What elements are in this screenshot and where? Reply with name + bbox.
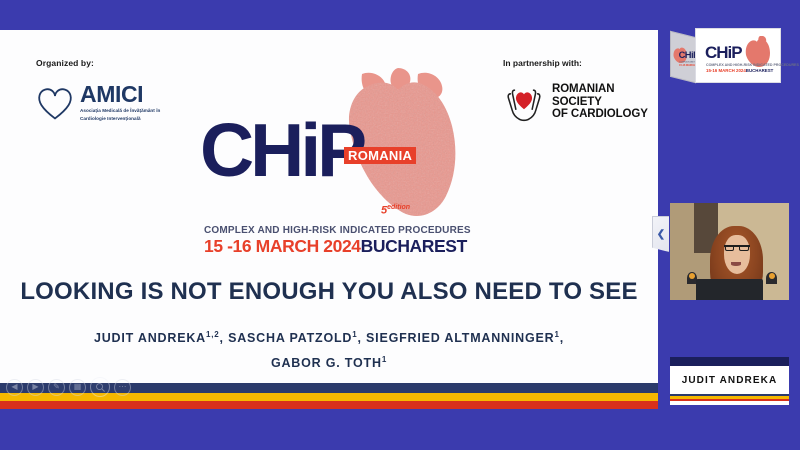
chevron-left-icon: ❮	[657, 229, 665, 240]
stripe-blue	[0, 409, 658, 421]
cube-side-date-city: 15-16 MARCH 2024BUCHAREST	[679, 64, 696, 67]
nameplate-stripe-red	[670, 399, 789, 401]
chip-city: BUCHAREST	[361, 236, 467, 256]
podium-laptop	[696, 279, 763, 300]
author-list: JUDIT ANDREKA1,2, SASCHA PATZOLD1, SIEGF…	[0, 326, 658, 376]
chip-tagline: COMPLEX AND HIGH-RISK INDICATED PROCEDUR…	[204, 225, 471, 236]
speaker-eye-right	[739, 245, 749, 252]
cube-side-wordmark: CHiP	[679, 50, 696, 61]
edition-suffix: edition	[387, 204, 410, 211]
rsc-line-1: ROMANIAN	[552, 83, 648, 96]
rsc-line-2: SOCIETY	[552, 96, 648, 109]
author-1-name: JUDIT ANDREKA	[94, 331, 206, 345]
speaker-eye-left	[725, 245, 735, 252]
rsc-line-3: OF CARDIOLOGY	[552, 108, 648, 121]
cube-front-face: CHiP COMPLEX AND HIGH-RISK INDICATED PRO…	[695, 28, 781, 83]
speaker-face	[724, 235, 750, 274]
author-4-sup: 1	[382, 355, 387, 364]
chip-date-location: 15 -16 MARCH 2024BUCHAREST	[204, 236, 467, 257]
author-4-name: GABOR G. TOTH	[271, 356, 382, 370]
edition-badge: 5edition	[381, 204, 410, 217]
romania-badge: ROMANIA	[344, 147, 416, 164]
cube-side-face: CHiP COMPLEX AND HIGH-RISK INDICATED PRO…	[670, 31, 696, 83]
cube-side-content: CHiP COMPLEX AND HIGH-RISK INDICATED PRO…	[676, 45, 689, 69]
cube-front-logo: CHiP COMPLEX AND HIGH-RISK INDICATED PRO…	[701, 34, 775, 78]
speaker-name: JUDIT ANDREKA	[670, 366, 789, 394]
zoom-magnifier-button[interactable]	[90, 377, 110, 397]
podium-lamp-right	[766, 272, 777, 285]
stripe-red	[0, 401, 658, 409]
cube-front-date-city: 15-16 MARCH 2024BUCHAREST	[706, 68, 773, 73]
organizer-block: Organized by: AMICI Asociația Medicală d…	[36, 58, 160, 122]
speaker-video-feed[interactable]	[670, 203, 789, 300]
magnifier-glyph	[95, 382, 106, 393]
pen-annotate-button[interactable]: ✎	[48, 379, 65, 396]
partnership-label: In partnership with:	[503, 58, 648, 68]
partnership-block: In partnership with: ROMANIAN SOCIETY	[503, 58, 648, 122]
nameplate-stripes	[670, 394, 789, 401]
cube-front-city: BUCHAREST	[746, 68, 774, 73]
slide-thumbnails-button[interactable]: ▦	[69, 379, 86, 396]
amici-text-lockup: AMICI Asociația Medicală de Învățământ î…	[80, 83, 160, 122]
amici-wordmark: AMICI	[80, 83, 160, 106]
chip-cube-tile: CHiP COMPLEX AND HIGH-RISK INDICATED PRO…	[670, 24, 788, 86]
chip-wordmark: CHiP	[200, 120, 363, 180]
amici-subtitle-line1: Asociația Medicală de Învățământ în	[80, 108, 160, 114]
chip-date: 15 -16 MARCH 2024	[204, 236, 361, 256]
romanian-society-text: ROMANIAN SOCIETY OF CARDIOLOGY	[552, 83, 648, 122]
presenter-controls[interactable]: ◀ ▶ ✎ ▦ ⋯	[6, 377, 131, 397]
author-line-1: JUDIT ANDREKA1,2, SASCHA PATZOLD1, SIEGF…	[0, 326, 658, 351]
author-1-sup: 1,2	[206, 330, 220, 339]
page-title: LOOKING IS NOT ENOUGH YOU ALSO NEED TO S…	[0, 278, 658, 306]
author-line-1-comma: ,	[560, 331, 564, 345]
author-line-2: GABOR G. TOTH1	[0, 351, 658, 376]
slide-canvas[interactable]: Organized by: AMICI Asociația Medicală d…	[0, 30, 658, 421]
hands-holding-heart-icon	[503, 82, 545, 122]
amici-logo: AMICI Asociația Medicală de Învățământ î…	[36, 83, 160, 122]
author-2-name: , SASCHA PATZOLD	[220, 331, 353, 345]
romanian-society-logo: ROMANIAN SOCIETY OF CARDIOLOGY	[503, 82, 648, 122]
presentation-viewer: Organized by: AMICI Asociația Medicală d…	[0, 0, 800, 450]
organizer-label: Organized by:	[36, 58, 160, 68]
cube-side-date: 15-16 MARCH 2024	[679, 64, 696, 67]
cube-side-logo: CHiP COMPLEX AND HIGH-RISK INDICATED PRO…	[676, 45, 689, 69]
cube-front-wordmark: CHiP	[705, 43, 742, 63]
cube-front-date: 15-16 MARCH 2024	[706, 68, 746, 73]
speaker-nameplate: JUDIT ANDREKA	[670, 357, 789, 405]
nameplate-header-bar	[670, 357, 789, 366]
collapse-panel-button[interactable]: ❮	[652, 216, 669, 252]
next-slide-button[interactable]: ▶	[27, 379, 44, 396]
more-options-button[interactable]: ⋯	[114, 379, 131, 396]
heart-outline-icon	[36, 85, 74, 121]
chip-event-logo: CHiP ROMANIA 5edition COMPLEX AND HIGH-R…	[196, 68, 471, 253]
previous-slide-button[interactable]: ◀	[6, 379, 23, 396]
amici-subtitle-line2: Cardiologie Intervențională	[80, 116, 160, 122]
side-rail: CHiP COMPLEX AND HIGH-RISK INDICATED PRO…	[658, 0, 800, 450]
cube-front-tagline: COMPLEX AND HIGH-RISK INDICATED PROCEDUR…	[706, 63, 799, 67]
author-3-name: , SIEGFRIED ALTMANNINGER	[358, 331, 555, 345]
